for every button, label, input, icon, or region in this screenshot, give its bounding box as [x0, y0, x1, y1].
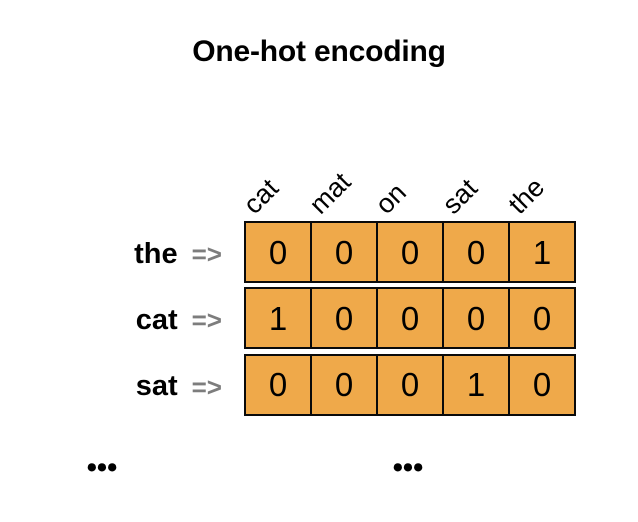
column-header-the: the: [509, 126, 575, 221]
matrix-cell: 0: [444, 223, 510, 281]
column-header-mat: mat: [310, 126, 376, 221]
matrix-cell: 1: [246, 289, 312, 347]
matrix-cell: 0: [378, 289, 444, 347]
column-header-label: mat: [305, 168, 356, 219]
matrix-cell: 1: [444, 356, 510, 414]
column-header-sat: sat: [443, 126, 509, 221]
row-label-column: the => cat => sat =>: [0, 221, 236, 420]
matrix-cell: 0: [246, 223, 312, 281]
matrix-row: 1 0 0 0 0: [244, 287, 576, 349]
column-header-on: on: [376, 126, 442, 221]
column-header-cat: cat: [244, 126, 310, 221]
matrix-cell: 0: [444, 289, 510, 347]
column-header-label: on: [371, 179, 411, 219]
maps-to-arrow-icon: =>: [192, 374, 222, 400]
row-continuation-ellipsis: •••: [87, 458, 117, 478]
column-header-label: the: [504, 173, 550, 219]
matrix-cell: 0: [378, 223, 444, 281]
page-title: One-hot encoding: [0, 33, 638, 71]
matrix-cell: 0: [312, 289, 378, 347]
row-label-the: the =>: [0, 221, 236, 287]
matrix-cell: 0: [246, 356, 312, 414]
maps-to-arrow-icon: =>: [192, 241, 222, 267]
matrix-cell: 0: [378, 356, 444, 414]
column-header-row: cat mat on sat the: [244, 126, 576, 221]
matrix-continuation-ellipsis: •••: [393, 458, 423, 478]
matrix-row: 0 0 0 0 1: [244, 221, 576, 283]
row-label-word: sat: [136, 372, 178, 401]
row-label-word: cat: [136, 306, 178, 335]
column-header-label: cat: [239, 174, 284, 219]
maps-to-arrow-icon: =>: [192, 307, 222, 333]
matrix-row: 0 0 0 1 0: [244, 354, 576, 416]
one-hot-matrix: 0 0 0 0 1 1 0 0 0 0 0 0 0 1 0: [244, 221, 576, 420]
row-label-word: the: [134, 240, 178, 269]
matrix-cell: 0: [510, 289, 574, 347]
row-label-cat: cat =>: [0, 287, 236, 353]
column-header-label: sat: [438, 174, 483, 219]
matrix-cell: 0: [312, 223, 378, 281]
matrix-cell: 1: [510, 223, 574, 281]
matrix-cell: 0: [312, 356, 378, 414]
one-hot-encoding-figure: One-hot encoding cat mat on sat the the …: [0, 0, 638, 522]
row-label-sat: sat =>: [0, 354, 236, 420]
matrix-cell: 0: [510, 356, 574, 414]
